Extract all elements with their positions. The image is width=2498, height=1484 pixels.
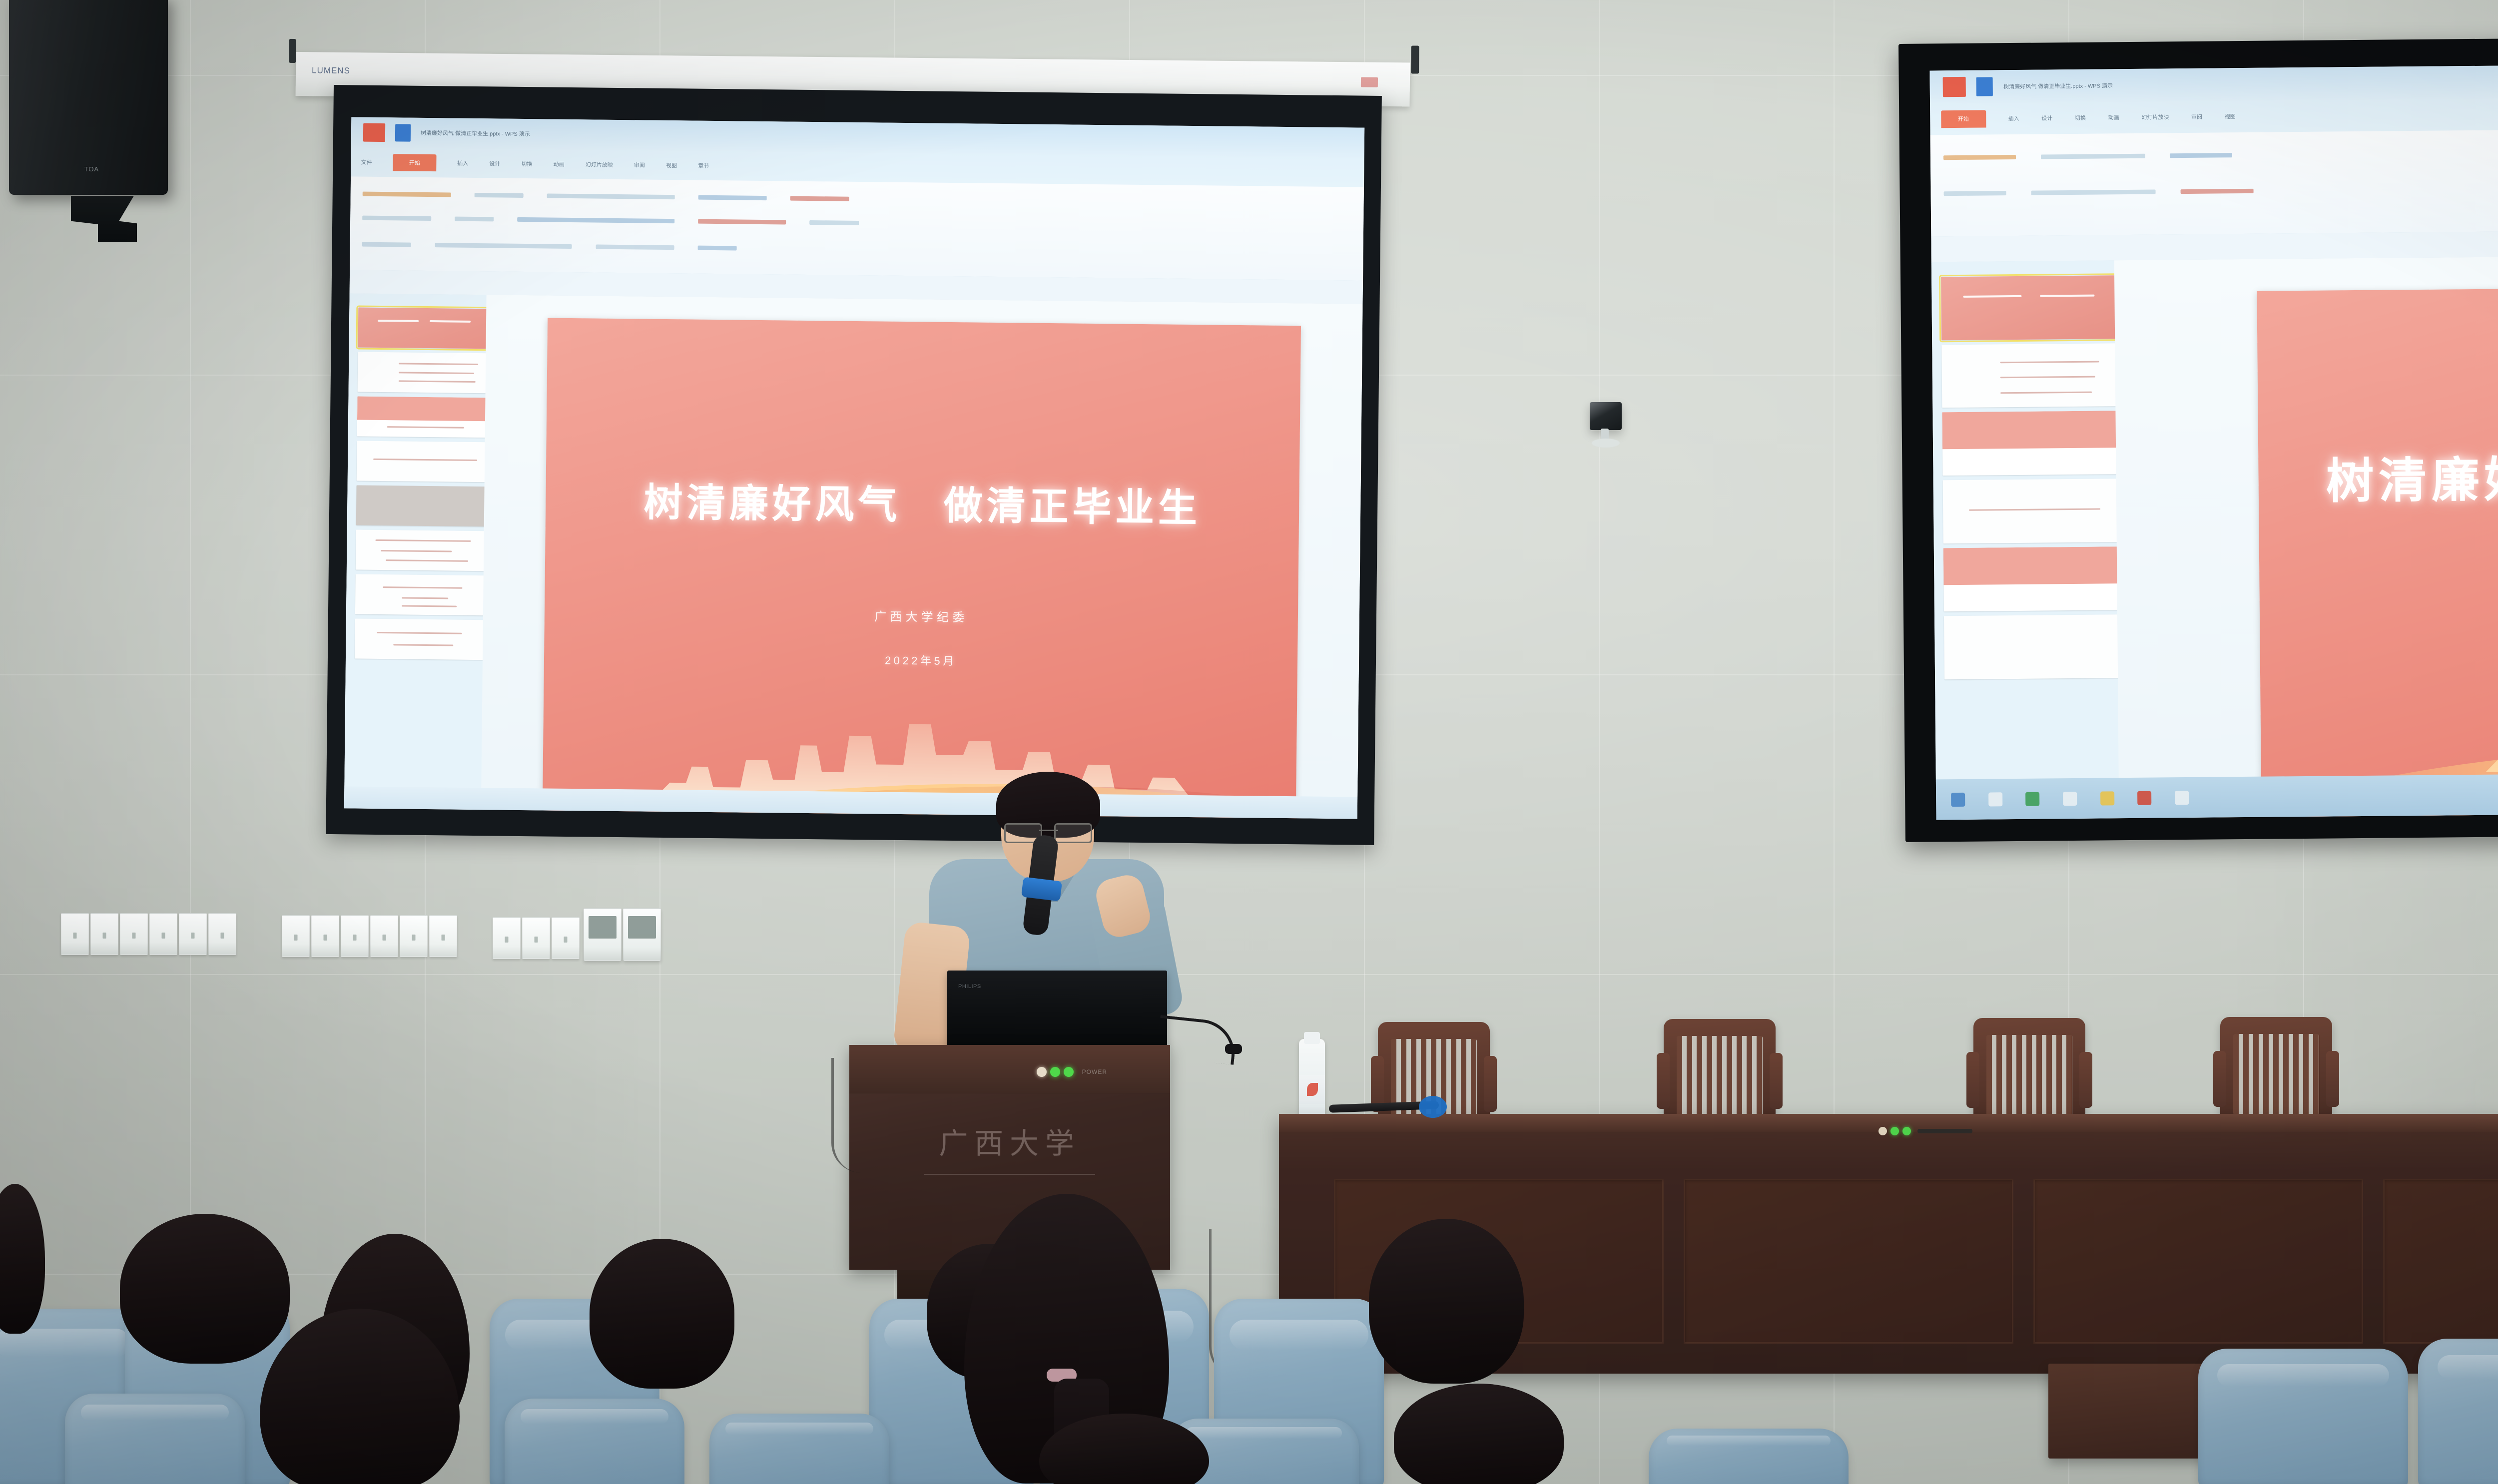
- slide-thumbnail-6[interactable]: [356, 530, 493, 571]
- slide-thumbnail-5-mirror[interactable]: [1943, 546, 2127, 611]
- podium-top-surface: [849, 1045, 1170, 1093]
- wps-logo-icon: [1942, 76, 1966, 97]
- desk-unit-body: [1917, 1129, 1972, 1133]
- media-icon[interactable]: [2100, 791, 2114, 805]
- light-switch[interactable]: [370, 915, 398, 957]
- light-switch[interactable]: [149, 913, 177, 955]
- tab-home-mirror[interactable]: 开始: [1941, 110, 1986, 128]
- light-switch[interactable]: [493, 917, 521, 959]
- tab-transitions[interactable]: 切换: [521, 160, 532, 168]
- ppt-title-bar-mirror: 树清廉好风气 做清正毕业生.pptx - WPS 演示: [1929, 61, 2498, 104]
- ribbon-fill-button[interactable]: [596, 244, 674, 250]
- tab-view-mirror[interactable]: 视图: [2225, 113, 2236, 121]
- current-slide[interactable]: 树清廉好风气 做清正毕业生 广西大学纪委 2022年5月: [542, 318, 1301, 819]
- conference-chair: [1973, 1018, 2085, 1119]
- ppt-workspace: 树清廉好风气 做清正毕业生 广西大学纪委 2022年5月: [344, 293, 1362, 797]
- roller-brand-label: LUMENS: [312, 65, 350, 76]
- tab-transitions-mirror[interactable]: 切换: [2075, 114, 2086, 122]
- wps-presentation-window-mirror[interactable]: 树清廉好风气 做清正毕业生.pptx - WPS 演示 开始 插入 设计 切换 …: [1929, 61, 2498, 820]
- tab-home[interactable]: 开始: [393, 154, 437, 171]
- lecture-hall-photo: TOA LUMENS 树清廉好风气 做清正毕业生.pptx - WPS 演示 文…: [0, 0, 2498, 1484]
- ribbon-font-group[interactable]: [547, 193, 674, 199]
- light-switch[interactable]: [341, 915, 369, 957]
- ribbon-paragraph-group-mirror[interactable]: [2170, 153, 2232, 158]
- ppt-workspace-mirror: 树清廉好风气 做清正毕业生 广西大学纪委 2022年5月: [1931, 252, 2498, 779]
- wall-speaker: TOA: [9, 0, 168, 195]
- light-switch[interactable]: [429, 915, 457, 957]
- light-switch[interactable]: [282, 915, 310, 957]
- auditorium-seat: [709, 1414, 889, 1484]
- led-display[interactable]: 树清廉好风气 做清正毕业生.pptx - WPS 演示 开始 插入 设计 切换 …: [1898, 34, 2498, 842]
- light-switch[interactable]: [311, 915, 339, 957]
- podium-power-led: [1037, 1067, 1047, 1077]
- power-led: [1878, 1127, 1887, 1135]
- slide-date-text: 2022年5月: [544, 648, 1297, 672]
- tab-animations[interactable]: 动画: [554, 160, 565, 168]
- slide-thumbnail-panel-mirror[interactable]: [1931, 260, 2138, 779]
- chair-arm-right: [1770, 1053, 1783, 1109]
- audience-head: [590, 1239, 734, 1389]
- projection-surface: 树清廉好风气 做清正毕业生.pptx - WPS 演示 文件 开始 插入 设计 …: [344, 117, 1364, 819]
- auditorium-seat: [1649, 1429, 1849, 1484]
- audience-head: [1369, 1219, 1524, 1384]
- slide-thumbnail-7[interactable]: [355, 574, 493, 616]
- light-switch-group-3[interactable]: [493, 917, 580, 959]
- roller-end-left: [289, 39, 296, 63]
- light-switch-group-1[interactable]: [61, 913, 236, 955]
- ac-control-panel-group[interactable]: [584, 908, 661, 961]
- tab-slideshow-mirror[interactable]: 幻灯片放映: [2141, 113, 2169, 121]
- slide-thumbnail-3-mirror[interactable]: [1942, 411, 2126, 476]
- slide-editor-canvas-mirror[interactable]: 树清廉好风气 做清正毕业生 广西大学纪委 2022年5月: [2114, 252, 2498, 778]
- podium-status-led: [1064, 1067, 1074, 1077]
- ppt-document-title: 树清廉好风气 做清正毕业生.pptx - WPS 演示: [421, 129, 530, 138]
- podium-indicator-row: POWER: [1037, 1067, 1107, 1077]
- table-panel: [2033, 1179, 2363, 1344]
- slide-thumbnail-3[interactable]: [357, 397, 495, 438]
- slide-title-text: 树清廉好风气 做清正毕业生: [545, 470, 1299, 534]
- ribbon-shape-group[interactable]: [790, 196, 849, 201]
- ppt-ribbon[interactable]: [350, 176, 1364, 281]
- light-switch[interactable]: [522, 917, 550, 959]
- tab-view[interactable]: 视图: [666, 161, 677, 169]
- table-panel: [2383, 1179, 2498, 1344]
- conference-chair: [2220, 1017, 2332, 1118]
- light-switch[interactable]: [90, 913, 118, 955]
- light-switch[interactable]: [120, 913, 148, 955]
- ac-thermostat-panel[interactable]: [623, 908, 661, 961]
- ppt-document-title-mirror: 树清廉好风气 做清正毕业生.pptx - WPS 演示: [2003, 81, 2113, 90]
- tab-review[interactable]: 审阅: [634, 161, 645, 169]
- ribbon-fontstyle-group-mirror[interactable]: [2031, 190, 2156, 195]
- save-icon[interactable]: [1976, 77, 1993, 96]
- wps-taskbar-icon[interactable]: [2137, 791, 2151, 805]
- browser-icon[interactable]: [2025, 792, 2039, 806]
- slide-thumbnail-4[interactable]: [357, 441, 494, 483]
- ribbon-newslide-button[interactable]: [475, 193, 524, 198]
- ribbon-arrange-group-mirror[interactable]: [2181, 189, 2254, 194]
- desk-microphone-head: [1419, 1096, 1447, 1118]
- wps-logo-icon: [363, 123, 385, 142]
- chair-arm-right: [2326, 1051, 2339, 1107]
- desk-unit-indicators-1: [1878, 1127, 1972, 1135]
- start-button-icon[interactable]: [1951, 792, 1965, 806]
- ribbon-layout-button[interactable]: [362, 216, 431, 221]
- ac-thermostat-panel[interactable]: [584, 908, 622, 961]
- city-skyline-graphic-mirror: [2485, 666, 2498, 772]
- slide-date-text-mirror: 2022年5月: [2260, 613, 2498, 639]
- tab-animations-mirror[interactable]: 动画: [2108, 114, 2119, 122]
- led-display-surface: 树清廉好风气 做清正毕业生.pptx - WPS 演示 开始 插入 设计 切换 …: [1929, 61, 2498, 820]
- ribbon-select-button[interactable]: [697, 245, 737, 250]
- ribbon-paste-group-mirror[interactable]: [1943, 154, 2016, 159]
- chair-arm-left: [2213, 1051, 2226, 1107]
- slide-title-text-mirror: 树清廉好风气 做清正毕业生: [2258, 436, 2498, 512]
- slide-thumbnail-8[interactable]: [355, 619, 492, 660]
- camera-base-plate: [1592, 439, 1620, 448]
- auditorium-seat: [65, 1394, 245, 1484]
- slide-organization-text: 广西大学纪委: [544, 603, 1298, 628]
- table-panel: [1684, 1179, 2013, 1344]
- roller-end-right: [1411, 45, 1419, 73]
- ribbon-font-group-mirror[interactable]: [2041, 153, 2145, 159]
- ribbon-fontstyle-group[interactable]: [518, 217, 674, 223]
- podium-engraved-rule: [924, 1174, 1095, 1175]
- status-led: [1902, 1127, 1911, 1135]
- explorer-icon[interactable]: [1988, 792, 2002, 806]
- audience-head: [120, 1214, 290, 1364]
- gooseneck-mic-head: [1225, 1044, 1242, 1054]
- ribbon-paragraph-group[interactable]: [698, 195, 766, 200]
- tab-slideshow[interactable]: 幻灯片放映: [586, 160, 613, 169]
- chair-arm-left: [1966, 1052, 1979, 1108]
- slide-thumbnail-4-mirror[interactable]: [1943, 479, 2126, 543]
- podium-institution-text: 广西大学: [849, 1120, 1170, 1162]
- podium-led-label: POWER: [1082, 1068, 1107, 1075]
- ribbon-reset-button[interactable]: [455, 217, 494, 222]
- wall-camera-icon: [1590, 402, 1622, 430]
- glasses-lens-right: [1054, 823, 1092, 843]
- slide-thumbnail-2-mirror[interactable]: [1942, 343, 2125, 408]
- slide-organization-text-mirror: 广西大学纪委: [2259, 568, 2498, 596]
- slide-thumbnail-panel[interactable]: [344, 293, 505, 788]
- podium-cable-left: [831, 1058, 869, 1173]
- ppt-ribbon-mirror[interactable]: [1930, 126, 2498, 237]
- conference-chair: [1664, 1019, 1776, 1120]
- monitor-brand-label: PHILIPS: [958, 984, 981, 989]
- light-switch[interactable]: [208, 913, 236, 955]
- light-switch[interactable]: [179, 913, 207, 955]
- wps-presentation-window[interactable]: 树清廉好风气 做清正毕业生.pptx - WPS 演示 文件 开始 插入 设计 …: [344, 117, 1364, 819]
- bottle-logo-icon: [1307, 1083, 1318, 1096]
- status-led: [1890, 1127, 1899, 1135]
- tray-icon[interactable]: [2175, 790, 2189, 804]
- tab-file[interactable]: 文件: [361, 158, 372, 166]
- ribbon-arrange-group[interactable]: [698, 219, 786, 225]
- tab-review-mirror[interactable]: 审阅: [2191, 113, 2202, 121]
- podium-status-led: [1050, 1067, 1060, 1077]
- chair-arm-right: [1484, 1056, 1497, 1112]
- chair-arm-left: [1657, 1053, 1670, 1109]
- slide-thumbnail-1-mirror[interactable]: [1941, 275, 2124, 340]
- ribbon-bullets-group[interactable]: [435, 243, 572, 249]
- bottle-cap: [1304, 1032, 1320, 1044]
- chair-arm-right: [2079, 1052, 2092, 1108]
- tab-section[interactable]: 章节: [698, 162, 709, 170]
- projection-screen[interactable]: 树清廉好风气 做清正毕业生.pptx - WPS 演示 文件 开始 插入 设计 …: [326, 85, 1382, 845]
- tab-design[interactable]: 设计: [489, 159, 500, 167]
- folder-icon[interactable]: [2063, 791, 2077, 805]
- speaker-brand-label: TOA: [84, 165, 99, 173]
- auditorium-seat: [2198, 1349, 2408, 1484]
- light-switch[interactable]: [61, 913, 89, 955]
- current-slide-mirror[interactable]: 树清廉好风气 做清正毕业生 广西大学纪委 2022年5月: [2257, 285, 2498, 820]
- slide-thumbnail-6-mirror[interactable]: [1944, 614, 2127, 679]
- save-icon[interactable]: [395, 124, 411, 142]
- tab-insert[interactable]: 插入: [457, 159, 468, 167]
- light-switch-group-2[interactable]: [282, 915, 457, 957]
- light-switch[interactable]: [400, 915, 428, 957]
- ribbon-align-button[interactable]: [362, 242, 411, 247]
- ribbon-paste-group[interactable]: [363, 192, 451, 197]
- roller-indicator: [1361, 77, 1378, 87]
- slide-thumbnail-1[interactable]: [358, 308, 496, 349]
- auditorium-seat: [2418, 1339, 2498, 1484]
- light-switch[interactable]: [552, 917, 580, 959]
- tab-design-mirror[interactable]: 设计: [2041, 114, 2052, 122]
- ribbon-layout-button-mirror[interactable]: [1943, 191, 2006, 196]
- podium-monitor: PHILIPS: [947, 971, 1167, 1050]
- slide-thumbnail-5[interactable]: [356, 486, 494, 527]
- auditorium-seat: [505, 1399, 684, 1484]
- slide-editor-canvas[interactable]: 树清廉好风气 做清正毕业生 广西大学纪委 2022年5月: [481, 295, 1362, 797]
- slide-thumbnail-2[interactable]: [358, 352, 495, 394]
- ribbon-find-button[interactable]: [810, 220, 859, 225]
- tab-insert-mirror[interactable]: 插入: [2008, 114, 2019, 122]
